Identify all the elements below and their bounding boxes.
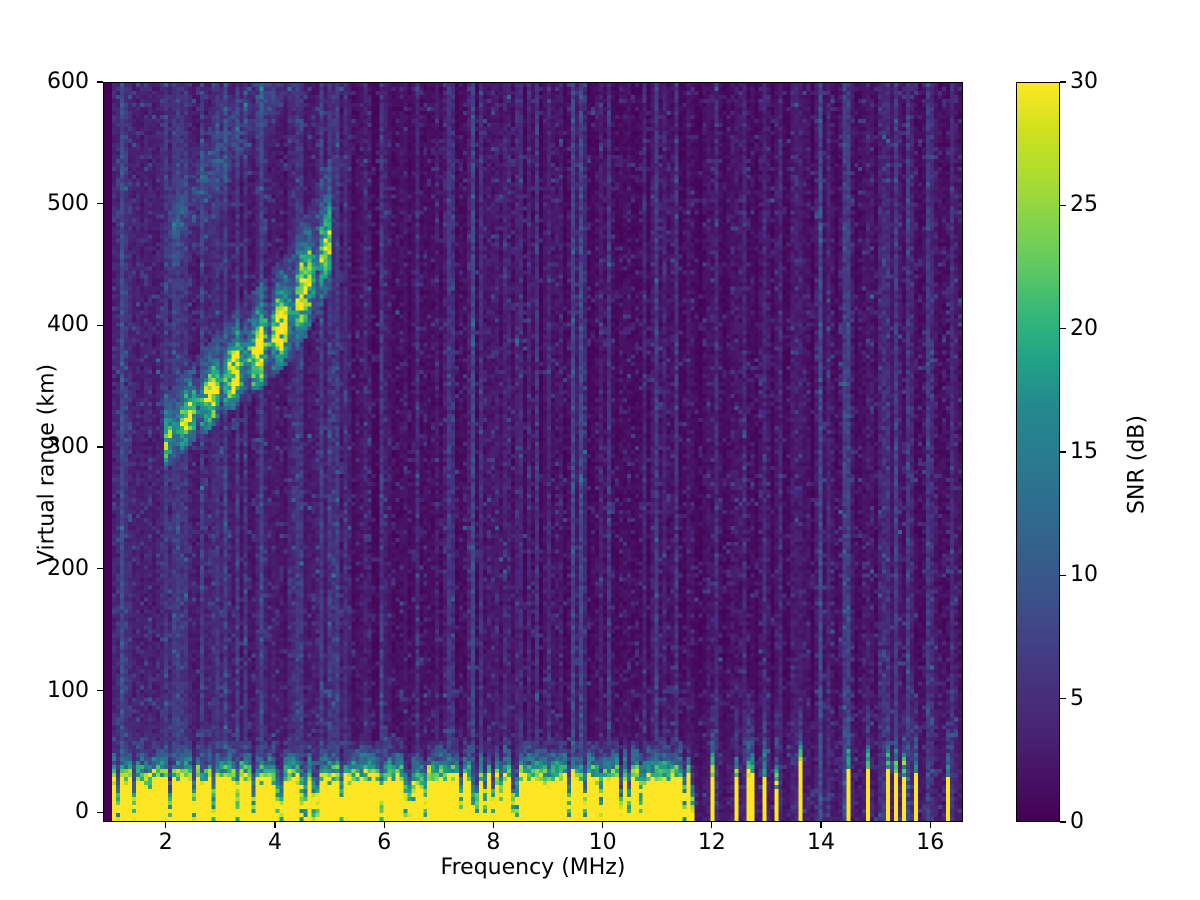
y-axis-label: Virtual range (km) <box>35 355 60 575</box>
y-tick-label: 400 <box>29 314 89 336</box>
colorbar-tick-label: 15 <box>1070 441 1098 463</box>
y-tick-label: 100 <box>29 680 89 702</box>
ionogram-plot-area[interactable] <box>103 82 963 822</box>
colorbar-tick-label: 5 <box>1070 688 1084 710</box>
colorbar-tick-mark <box>1060 328 1066 329</box>
x-tick-mark <box>930 822 931 828</box>
colorbar-gradient <box>1016 82 1060 822</box>
x-tick-label: 4 <box>235 832 315 854</box>
colorbar-tick-mark <box>1060 821 1066 822</box>
y-tick-label: 0 <box>29 801 89 823</box>
x-tick-mark <box>493 822 494 828</box>
x-tick-mark <box>384 822 385 828</box>
x-tick-label: 14 <box>781 832 861 854</box>
x-tick-mark <box>165 822 166 828</box>
x-tick-mark <box>711 822 712 828</box>
x-tick-mark <box>820 822 821 828</box>
colorbar-tick-label: 10 <box>1070 564 1098 586</box>
ionogram-figure: IRF Kiruna Ionosonde KI167 2026-02-28 03… <box>0 0 1200 900</box>
ionogram-heatmap <box>104 83 962 821</box>
x-tick-label: 16 <box>890 832 970 854</box>
colorbar-tick-mark <box>1060 698 1066 699</box>
colorbar-tick-label: 30 <box>1070 71 1098 93</box>
x-tick-label: 8 <box>453 832 533 854</box>
x-tick-mark <box>274 822 275 828</box>
x-tick-label: 12 <box>672 832 752 854</box>
colorbar-tick-label: 20 <box>1070 318 1098 340</box>
x-tick-mark <box>602 822 603 828</box>
colorbar-label: SNR (dB) <box>1125 365 1150 565</box>
x-tick-label: 10 <box>563 832 643 854</box>
x-tick-label: 2 <box>126 832 206 854</box>
colorbar-tick-label: 0 <box>1070 811 1084 833</box>
colorbar-tick-label: 25 <box>1070 194 1098 216</box>
colorbar-tick-mark <box>1060 451 1066 452</box>
colorbar-tick-mark <box>1060 575 1066 576</box>
x-axis-label: Frequency (MHz) <box>103 855 963 880</box>
x-tick-label: 6 <box>344 832 424 854</box>
